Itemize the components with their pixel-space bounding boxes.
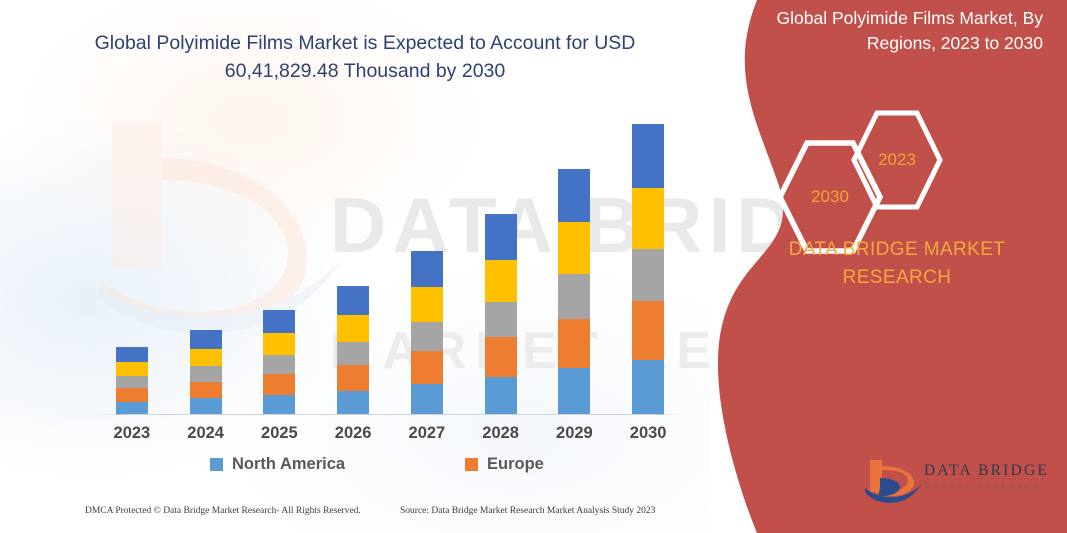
bar-segment	[558, 169, 590, 222]
legend-label: North America	[232, 455, 345, 474]
bar-segment	[558, 222, 590, 274]
bar-segment	[190, 382, 222, 399]
bar-segment	[485, 377, 517, 415]
x-axis-line	[95, 414, 685, 415]
bar-segment	[411, 351, 443, 384]
hexagon-2030-label: 2030	[775, 187, 885, 207]
legend-item[interactable]: North America	[210, 455, 345, 474]
bar-segment	[263, 374, 295, 395]
bar-segment	[337, 315, 369, 342]
bar-segment	[411, 384, 443, 415]
brand-panel: Global Polyimide Films Market, By Region…	[707, 0, 1067, 533]
bar-segment	[337, 391, 369, 415]
bar-segment	[632, 360, 664, 415]
x-axis-tick-label: 2026	[323, 424, 383, 443]
legend-swatch-icon	[210, 458, 223, 471]
bar-segment	[116, 376, 148, 388]
bar-segment	[116, 347, 148, 361]
bar-segment	[190, 398, 222, 415]
bar-column	[558, 169, 590, 415]
chart-legend: North AmericaEurope	[95, 455, 685, 481]
bar-column	[263, 310, 295, 415]
x-axis-tick-label: 2025	[249, 424, 309, 443]
x-axis-tick-label: 2024	[176, 424, 236, 443]
legend-label: Europe	[487, 455, 544, 474]
bar-segment	[116, 402, 148, 415]
bar-segment	[263, 395, 295, 415]
footer-source: Source: Data Bridge Market Research Mark…	[400, 506, 655, 516]
x-axis-tick-labels: 20232024202520262027202820292030	[95, 424, 685, 450]
bar-segment	[485, 260, 517, 302]
bar-segment	[411, 251, 443, 288]
data-bridge-mark-icon	[862, 458, 922, 506]
bar-column	[411, 251, 443, 415]
footer-copyright: DMCA Protected © Data Bridge Market Rese…	[85, 506, 361, 516]
panel-title: Global Polyimide Films Market, By Region…	[747, 6, 1043, 57]
bar-segment	[485, 214, 517, 259]
bar-segment	[337, 342, 369, 365]
chart-title: Global Polyimide Films Market is Expecte…	[60, 30, 670, 85]
bar-segment	[337, 286, 369, 315]
bar-segment	[558, 368, 590, 415]
bar-segment	[632, 301, 664, 360]
bar-segment	[411, 287, 443, 321]
bar-segment	[632, 249, 664, 301]
bar-segment	[485, 302, 517, 337]
logo-text: DATA BRIDGE MARKET RESEARCH	[924, 462, 1049, 491]
bar-segment	[116, 388, 148, 401]
bar-column	[485, 214, 517, 415]
x-axis-tick-label: 2027	[397, 424, 457, 443]
bar-column	[116, 347, 148, 415]
bar-segment	[116, 362, 148, 376]
bar-segment	[632, 188, 664, 249]
bar-segment	[263, 355, 295, 374]
bar-column	[190, 330, 222, 415]
legend-swatch-icon	[465, 458, 478, 471]
bar-segment	[485, 337, 517, 377]
bar-column	[337, 286, 369, 415]
bar-column	[632, 124, 664, 415]
bar-segment	[558, 319, 590, 369]
bar-segment	[263, 333, 295, 355]
x-axis-tick-label: 2030	[618, 424, 678, 443]
logo-title: DATA BRIDGE	[924, 462, 1049, 480]
logo-subtitle: MARKET RESEARCH	[924, 483, 1049, 491]
data-bridge-logo: DATA BRIDGE MARKET RESEARCH	[862, 458, 1052, 510]
footer: DMCA Protected © Data Bridge Market Rese…	[0, 506, 710, 528]
legend-item[interactable]: Europe	[465, 455, 544, 474]
bar-segment	[632, 124, 664, 187]
x-axis-tick-label: 2029	[544, 424, 604, 443]
bar-segment	[263, 310, 295, 333]
bar-segment	[337, 365, 369, 391]
hexagon-badges: 2023 2030	[767, 90, 1067, 210]
bar-segment	[190, 349, 222, 367]
bar-segment	[558, 274, 590, 318]
x-axis-tick-label: 2023	[102, 424, 162, 443]
bar-segment	[190, 366, 222, 382]
stacked-bar-chart	[95, 110, 685, 415]
bar-segment	[190, 330, 222, 349]
bar-segment	[411, 322, 443, 351]
brand-name: DATA BRIDGE MARKET RESEARCH	[747, 236, 1047, 292]
infographic-canvas: DATA BRIDGE MARKET RESEARCH Global Polyi…	[0, 0, 1067, 533]
x-axis-tick-label: 2028	[471, 424, 531, 443]
